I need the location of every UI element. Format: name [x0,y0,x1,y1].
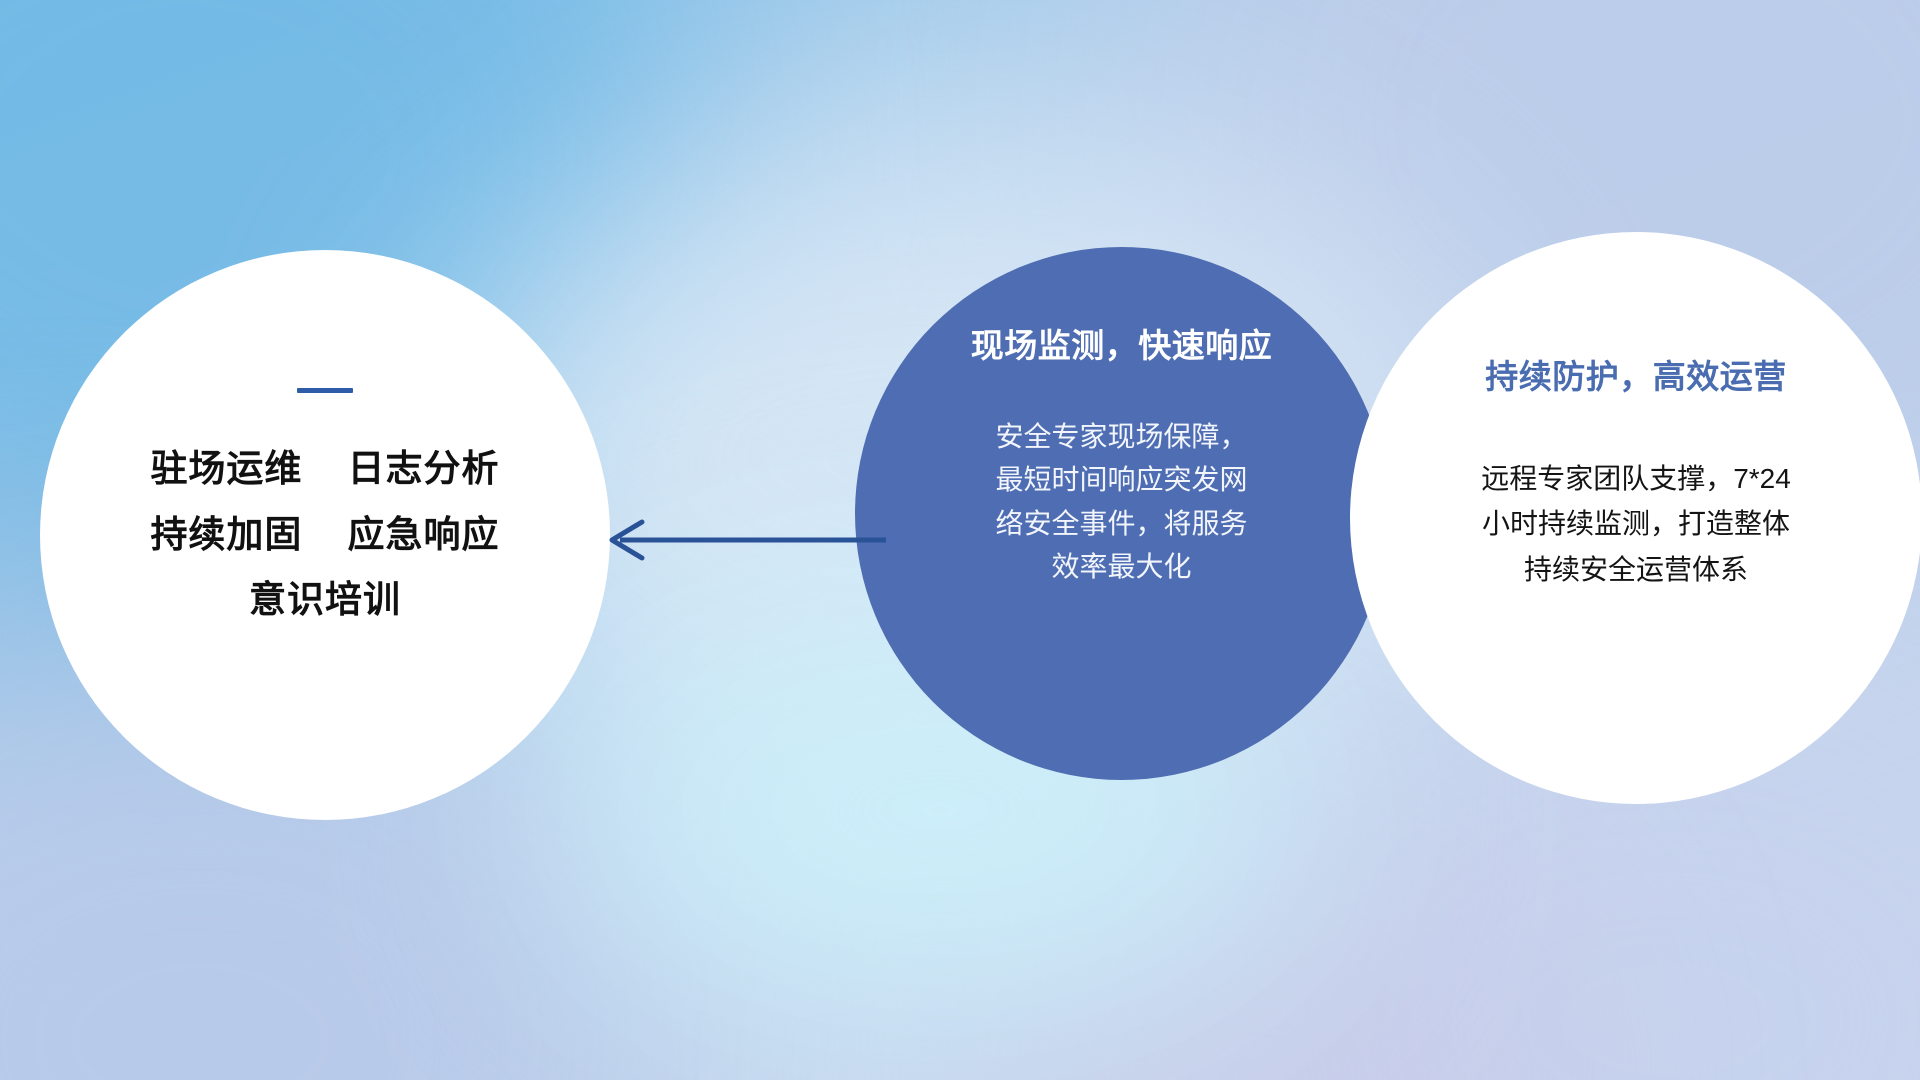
middle-circle-body: 安全专家现场保障， 最短时间响应突发网 络安全事件，将服务 效率最大化 [966,415,1278,589]
right-body-line: 持续安全运营体系 [1436,547,1836,592]
right-circle-card[interactable]: 持续防护，高效运营 远程专家团队支撑，7*24 小时持续监测，打造整体 持续安全… [1350,232,1920,804]
left-keyword-line: 意识培训 [40,568,610,632]
divider-dash-icon [297,388,353,393]
middle-body-line: 最短时间响应突发网 [966,458,1278,501]
left-arrow-icon [590,500,890,580]
right-body-line: 小时持续监测，打造整体 [1436,501,1836,546]
left-keyword-line: 驻场运维 日志分析 [40,437,610,501]
right-body-line: 远程专家团队支撑，7*24 [1436,456,1836,501]
middle-circle-card[interactable]: 现场监测，快速响应 安全专家现场保障， 最短时间响应突发网 络安全事件，将服务 … [855,247,1388,780]
middle-circle-heading: 现场监测，快速响应 [971,319,1273,367]
slide-canvas: 现场监测，快速响应 安全专家现场保障， 最短时间响应突发网 络安全事件，将服务 … [0,0,1920,1080]
middle-body-line: 络安全事件，将服务 [966,502,1278,545]
right-circle-body: 远程专家团队支撑，7*24 小时持续监测，打造整体 持续安全运营体系 [1436,456,1836,592]
left-keyword-line: 持续加固 应急响应 [40,503,610,567]
left-circle-keyword-list: 驻场运维 日志分析 持续加固 应急响应 意识培训 [40,437,610,632]
middle-body-line: 效率最大化 [966,545,1278,588]
middle-body-line: 安全专家现场保障， [966,415,1278,458]
left-circle-card[interactable]: 驻场运维 日志分析 持续加固 应急响应 意识培训 [40,250,610,820]
right-circle-heading: 持续防护，高效运营 [1485,350,1787,398]
